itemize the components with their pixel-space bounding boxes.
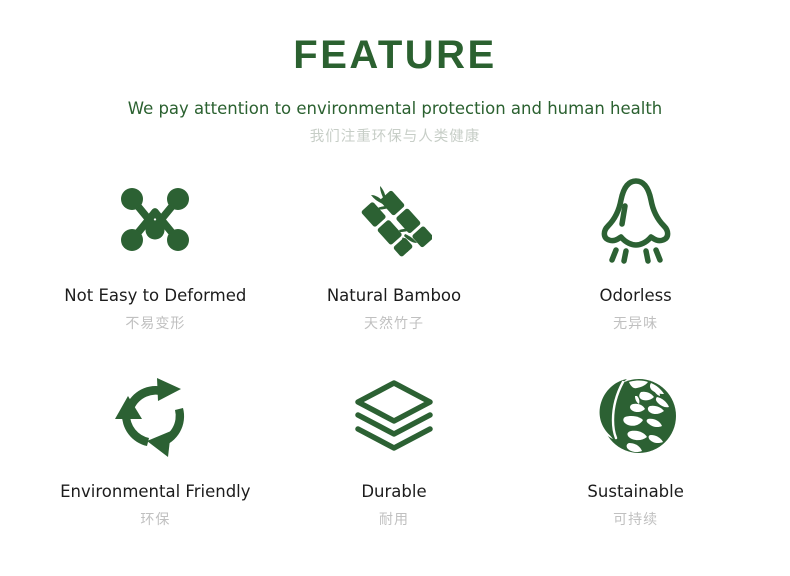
feature-item-environmental-friendly: Environmental Friendly 环保	[35, 366, 276, 562]
feature-label-en: Durable	[361, 482, 426, 502]
feature-label-en: Sustainable	[587, 482, 683, 502]
feature-label-en: Natural Bamboo	[327, 286, 461, 306]
feature-label-cn: 无异味	[613, 316, 658, 333]
feature-label-en: Environmental Friendly	[60, 482, 250, 502]
feature-item-odorless: Odorless 无异味	[515, 170, 756, 366]
page-title: FEATURE	[0, 34, 790, 76]
feature-item-durable: Durable 耐用	[274, 366, 515, 562]
feature-grid: Not Easy to Deformed 不易变形	[0, 170, 790, 562]
feature-label-cn: 不易变形	[125, 316, 185, 333]
molecule-nodes-icon	[117, 170, 193, 270]
feature-label-cn: 耐用	[379, 512, 409, 529]
layers-stack-icon	[353, 366, 435, 466]
feature-label-en: Odorless	[600, 286, 672, 306]
nose-icon	[597, 170, 675, 270]
bamboo-icon	[356, 170, 432, 270]
feature-item-sustainable: Sustainable 可持续	[515, 366, 756, 562]
feature-label-en: Not Easy to Deformed	[64, 286, 246, 306]
feature-label-cn: 环保	[140, 512, 170, 529]
feature-section: FEATURE We pay attention to environmenta…	[0, 0, 790, 576]
subtitle-english: We pay attention to environmental protec…	[0, 99, 790, 119]
subtitle-chinese: 我们注重环保与人类健康	[0, 129, 790, 146]
recycle-icon	[113, 366, 197, 466]
section-header: FEATURE We pay attention to environmenta…	[0, 0, 790, 146]
feature-label-cn: 天然竹子	[364, 316, 424, 333]
feature-label-cn: 可持续	[613, 512, 658, 529]
feature-item-not-easy-to-deformed: Not Easy to Deformed 不易变形	[35, 170, 276, 366]
globe-leaf-icon	[593, 366, 679, 466]
feature-item-natural-bamboo: Natural Bamboo 天然竹子	[274, 170, 515, 366]
